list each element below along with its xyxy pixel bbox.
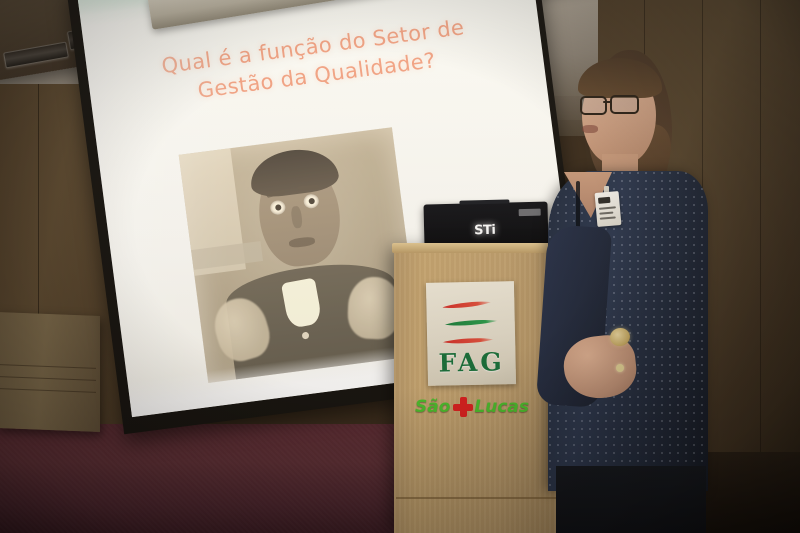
presentation-photo-scene: Qual é a função do Setor de Gestão da Qu… (0, 0, 800, 533)
wooden-cabinet (0, 312, 100, 432)
logo-arc-red-top (438, 295, 495, 310)
presenter-mouth (582, 125, 598, 133)
logo-arc-red-bottom (439, 332, 497, 344)
fag-logo-text: FAG (427, 347, 516, 378)
slide-photo (179, 127, 422, 383)
ring-icon (616, 364, 624, 372)
presenter (520, 46, 720, 533)
sao-lucas-logo: São Lucas (415, 393, 529, 421)
logo-arc-green-middle (440, 314, 500, 327)
fag-logo-plaque: FAG (426, 281, 516, 386)
glasses-icon (580, 96, 642, 112)
laptop-brand-badge: STi (474, 223, 496, 239)
sao-lucas-word-1: São (415, 397, 450, 417)
id-badge (595, 191, 622, 227)
presenter-lower-body (556, 466, 706, 533)
laptop-hinge (459, 199, 509, 204)
red-cross-icon (453, 397, 471, 417)
